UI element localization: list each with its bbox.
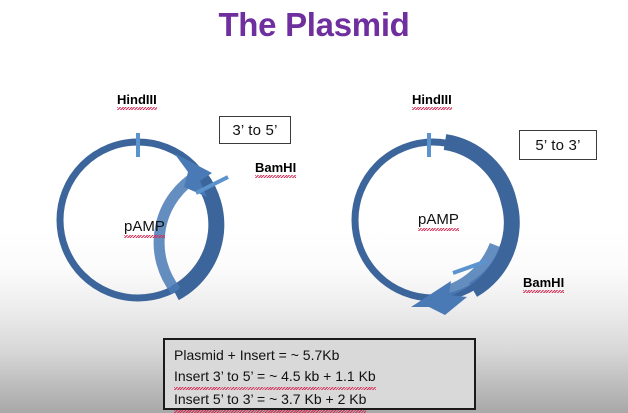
label-hindiii-right-text: HindIII xyxy=(412,92,452,109)
legend-line-text: Insert 5’ to 3’ = ~ 3.7 Kb + 2 Kb xyxy=(174,389,366,412)
label-hindiii-right: HindIII xyxy=(412,92,452,109)
label-bamhi-right-text: BamHI xyxy=(523,275,564,292)
direction-box-right: 5’ to 3’ xyxy=(519,130,597,160)
slide-canvas: The Plasmid HindIII BamHI pAMP 3’ to xyxy=(0,0,628,413)
label-plasmid-name-right-text: pAMP xyxy=(418,211,459,230)
label-bamhi-left-text: BamHI xyxy=(255,160,296,177)
insert-arrow-ccw xyxy=(159,153,216,293)
label-bamhi-right: BamHI xyxy=(523,275,564,292)
page-title: The Plasmid xyxy=(0,6,628,44)
direction-box-left-text: 3’ to 5’ xyxy=(232,122,277,139)
direction-box-right-text: 5’ to 3’ xyxy=(535,137,580,154)
direction-box-left: 3’ to 5’ xyxy=(219,116,291,144)
legend-line-text: Plasmid + Insert = ~ 5.7Kb xyxy=(174,347,339,363)
legend-box: Plasmid + Insert = ~ 5.7Kb Insert 3’ to … xyxy=(163,338,476,410)
label-bamhi-left: BamHI xyxy=(255,160,296,177)
label-hindiii-left-text: HindIII xyxy=(117,92,157,109)
label-plasmid-name-right: pAMP xyxy=(418,211,459,230)
legend-line-text: Insert 3’ to 5’ = ~ 4.5 kb + 1.1 Kb xyxy=(174,366,376,389)
label-plasmid-name-left: pAMP xyxy=(124,218,165,237)
legend-line: Insert 3’ to 5’ = ~ 4.5 kb + 1.1 Kb xyxy=(174,366,474,389)
label-hindiii-left: HindIII xyxy=(117,92,157,109)
label-plasmid-name-left-text: pAMP xyxy=(124,218,165,237)
legend-line: Insert 5’ to 3’ = ~ 3.7 Kb + 2 Kb xyxy=(174,389,474,412)
legend-line: Plasmid + Insert = ~ 5.7Kb xyxy=(174,345,474,366)
